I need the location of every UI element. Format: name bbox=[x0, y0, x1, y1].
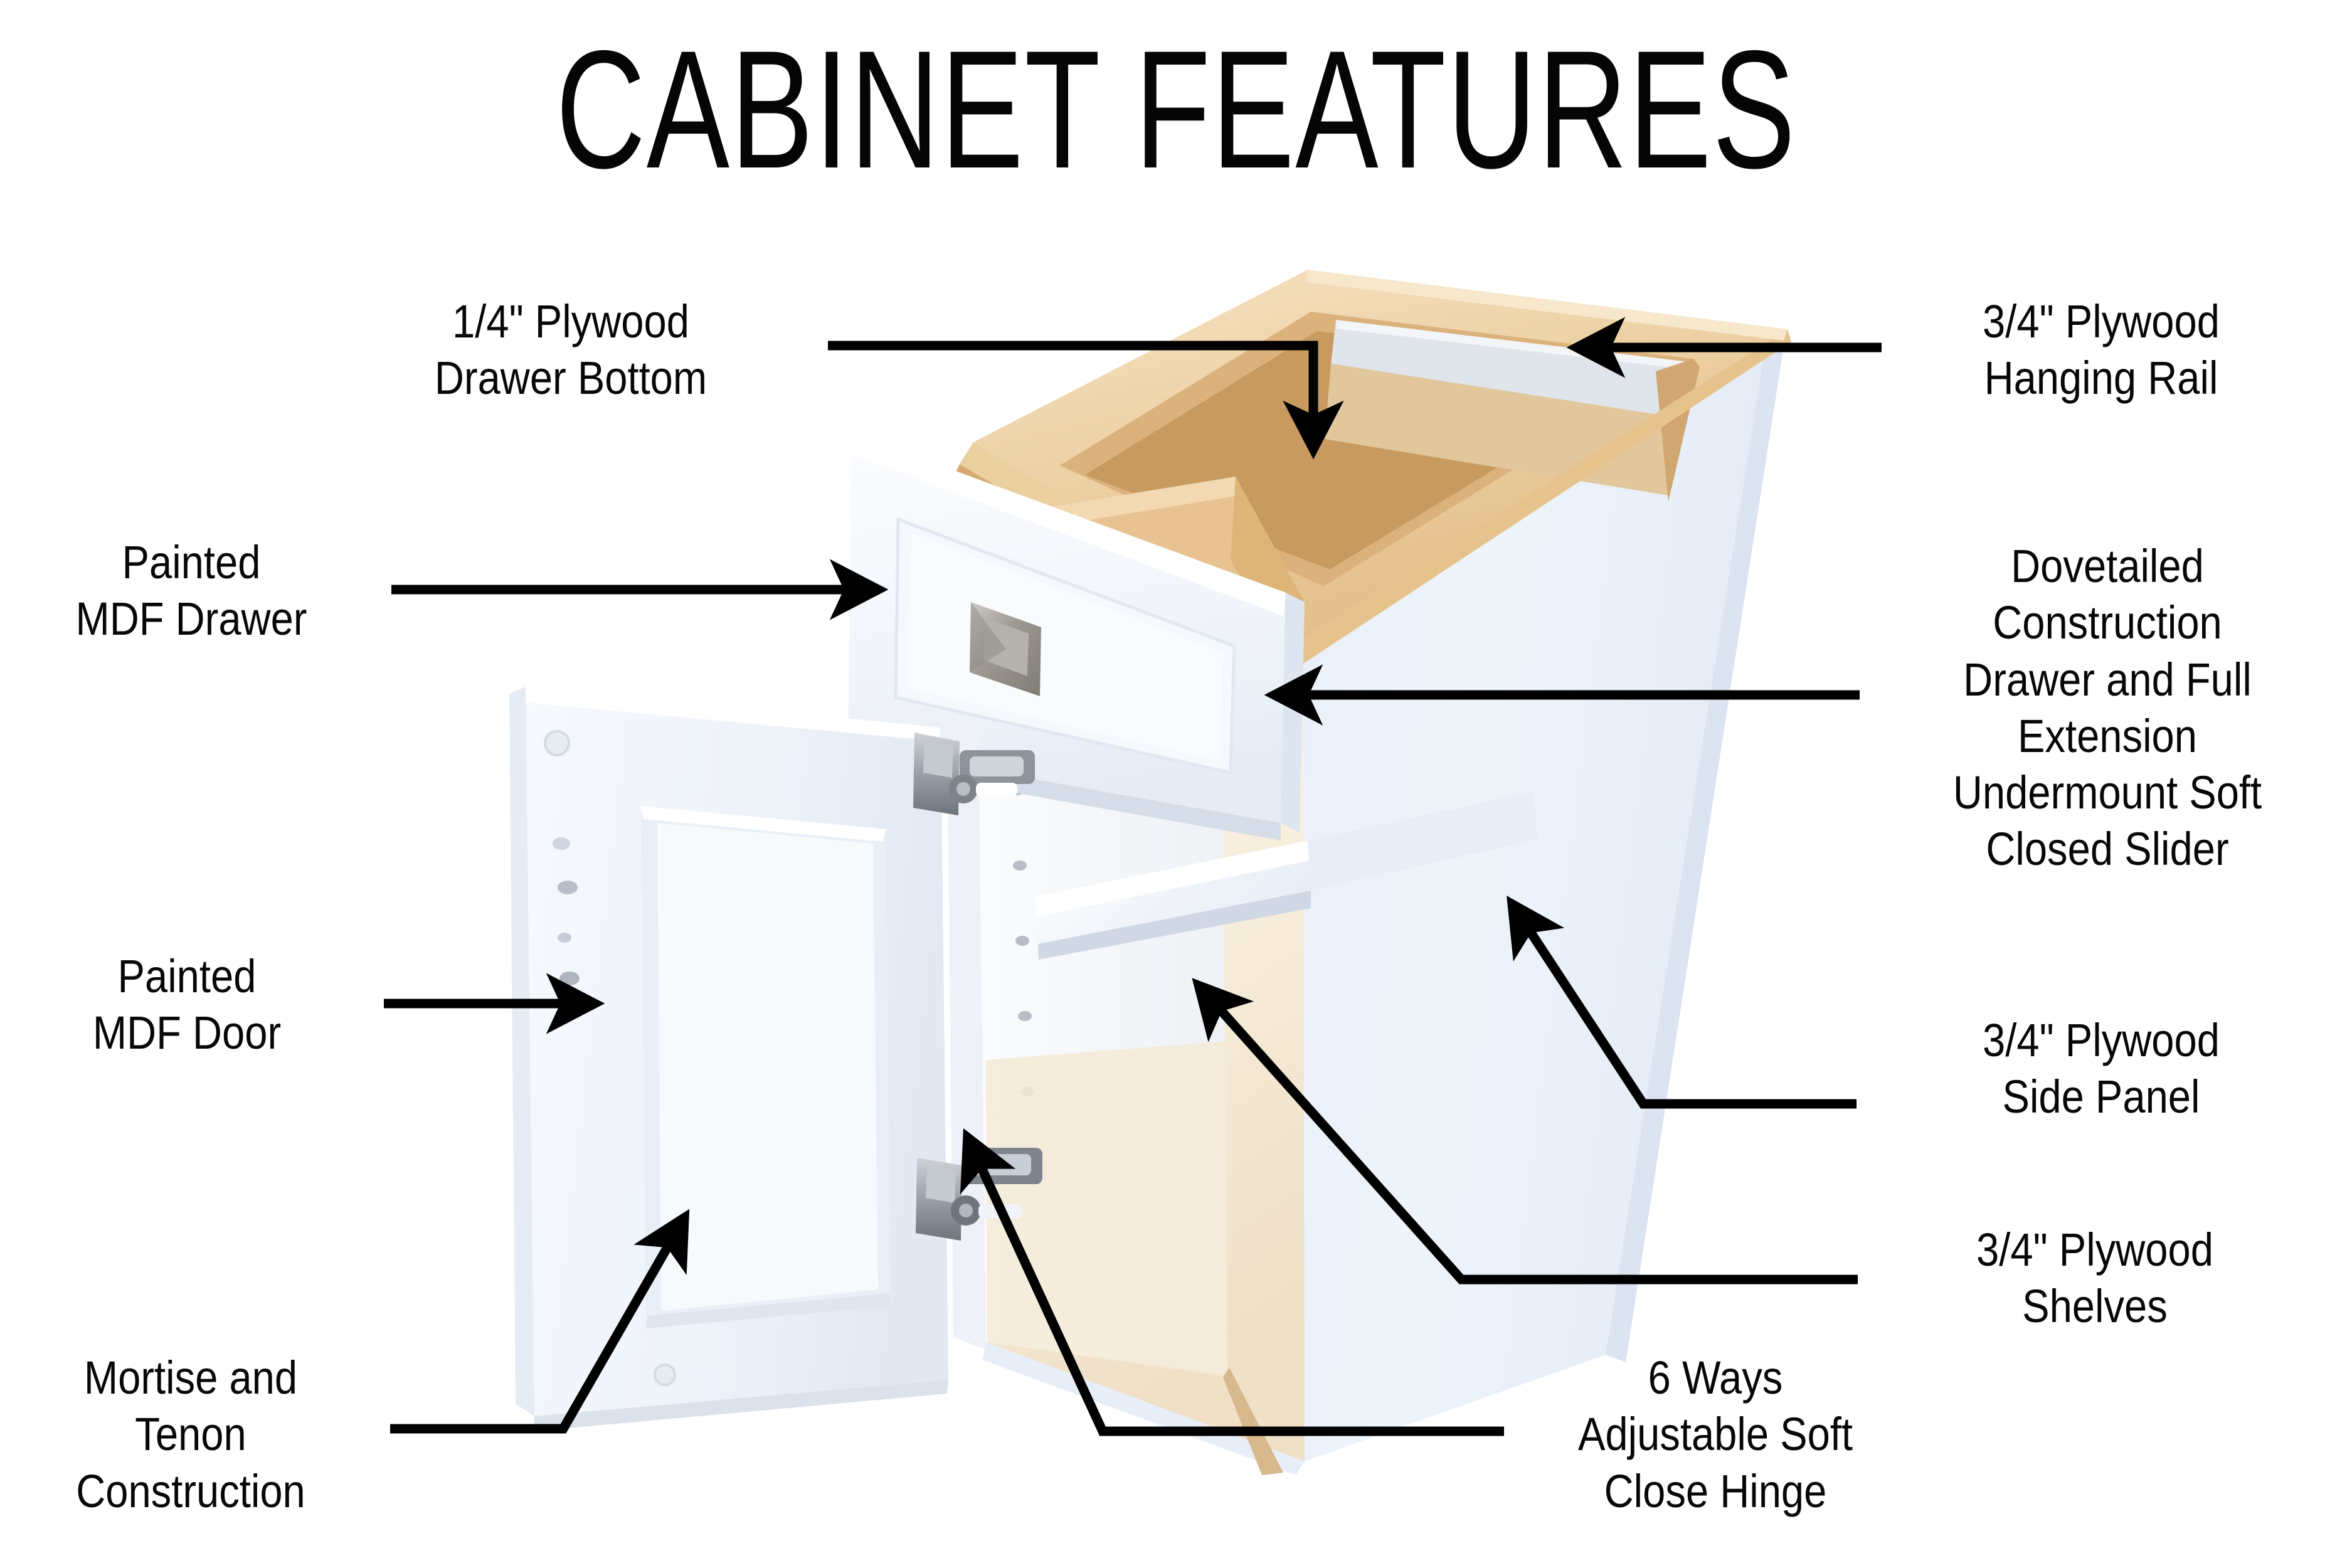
label-dovetailed-construction: Dovetailed Construction Drawer and Full … bbox=[1903, 538, 2311, 878]
cabinet-shelf bbox=[1035, 792, 1538, 960]
label-plywood-hanging-rail: 3/4" Plywood Hanging Rail bbox=[1908, 294, 2294, 407]
label-mortise-tenon-construction: Mortise and Tenon Construction bbox=[23, 1350, 358, 1520]
arrow-plywood-drawer-bottom bbox=[828, 346, 1313, 450]
plywood-carcass-top bbox=[956, 270, 1791, 672]
arrow-soft-close-hinge bbox=[967, 1136, 1504, 1431]
label-painted-mdf-drawer: Painted MDF Drawer bbox=[23, 534, 360, 648]
drawer-front bbox=[848, 433, 1305, 840]
face-frame bbox=[947, 720, 986, 1350]
hinge-cup-holes bbox=[553, 837, 580, 985]
arrow-mortise-tenon bbox=[390, 1217, 685, 1429]
cabinet-features-infographic: CABINET FEATURES bbox=[0, 0, 2352, 1568]
cabinet-door bbox=[509, 687, 948, 1416]
cabinet-side-panel bbox=[1277, 332, 1784, 1461]
page-title: CABINET FEATURES bbox=[306, 24, 2047, 195]
bottom-hinge bbox=[916, 1148, 1042, 1241]
drawer-knob bbox=[970, 602, 1041, 696]
top-hinge bbox=[913, 733, 1035, 815]
arrow-plywood-shelves bbox=[1198, 985, 1858, 1279]
label-plywood-shelves: 3/4" Plywood Shelves bbox=[1902, 1222, 2288, 1335]
label-painted-mdf-door: Painted MDF Door bbox=[23, 948, 351, 1062]
label-adjustable-soft-close-hinge: 6 Ways Adjustable Soft Close Hinge bbox=[1506, 1350, 1926, 1520]
cabinet-interior bbox=[965, 662, 1305, 1461]
arrow-plywood-side-panel bbox=[1512, 903, 1857, 1104]
drawer-box bbox=[904, 477, 1305, 687]
label-plywood-drawer-bottom: 1/4" Plywood Drawer Bottom bbox=[378, 294, 764, 407]
cabinet-bottom-edge bbox=[533, 1342, 1305, 1475]
label-plywood-side-panel: 3/4" Plywood Side Panel bbox=[1908, 1012, 2294, 1126]
